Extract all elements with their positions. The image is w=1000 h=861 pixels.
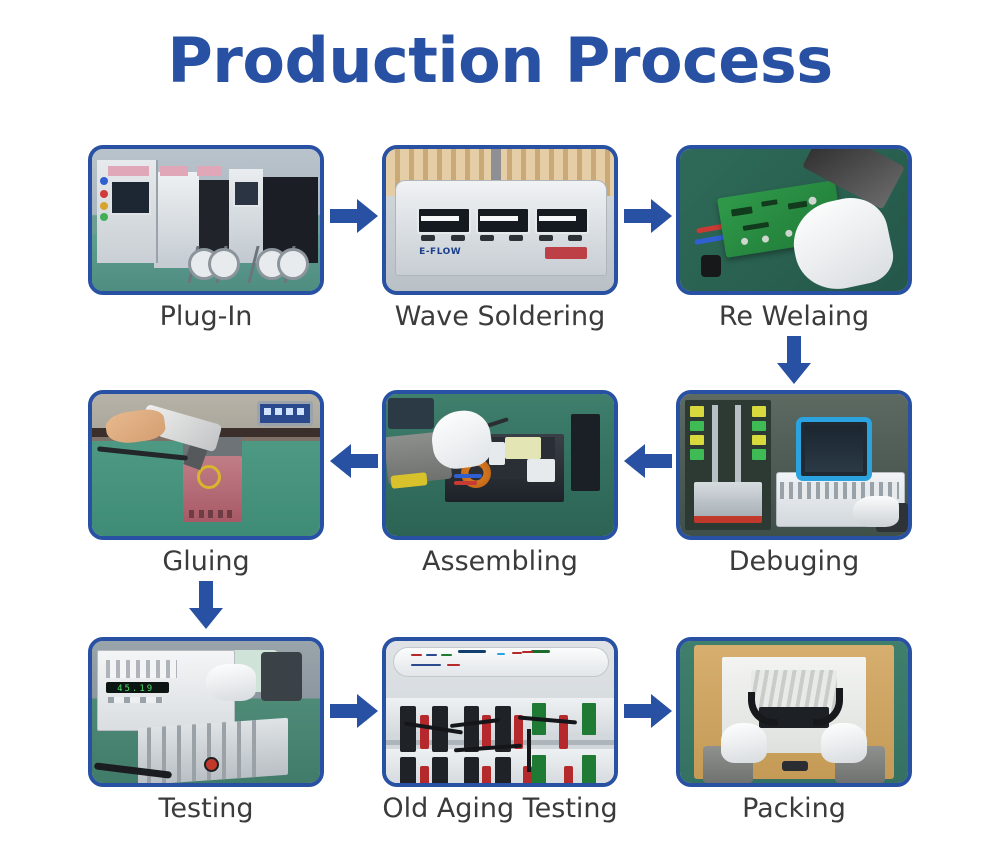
step-card-re-welaing[interactable] bbox=[676, 145, 912, 295]
step-label-wave-soldering: Wave Soldering bbox=[382, 301, 618, 333]
arrow-down-rewelaing-to-debuging bbox=[774, 336, 814, 384]
step-card-wave-soldering[interactable]: E-FLOW bbox=[382, 145, 618, 295]
step-label-plug-in: Plug-In bbox=[88, 301, 324, 333]
step-debuging[interactable]: Debuging bbox=[676, 390, 912, 578]
step-card-plug-in[interactable] bbox=[88, 145, 324, 295]
photo-debuging-test-fixture bbox=[680, 394, 908, 536]
step-label-re-welaing: Re Welaing bbox=[676, 301, 912, 333]
step-label-packing: Packing bbox=[676, 793, 912, 825]
photo-text-meter-reading: 45.19 bbox=[117, 684, 154, 694]
step-card-debuging[interactable] bbox=[676, 390, 912, 540]
arrow-down-gluing-to-testing bbox=[186, 581, 226, 629]
step-card-packing[interactable] bbox=[676, 637, 912, 787]
arrow-right-testing-to-aging bbox=[330, 691, 378, 731]
step-label-assembling: Assembling bbox=[382, 546, 618, 578]
step-packing[interactable]: Packing bbox=[676, 637, 912, 825]
step-wave-soldering[interactable]: E-FLOW Wave Soldering bbox=[382, 145, 618, 333]
page-title: Production Process bbox=[0, 28, 1000, 93]
step-card-old-aging-testing[interactable] bbox=[382, 637, 618, 787]
step-plug-in[interactable]: Plug-In bbox=[88, 145, 324, 333]
photo-packing-carton-box bbox=[680, 641, 908, 783]
arrow-left-debuging-to-assembling bbox=[624, 441, 672, 481]
photo-re-welaing-hand-soldering bbox=[680, 149, 908, 291]
step-card-testing[interactable]: 45.19 bbox=[88, 637, 324, 787]
photo-gluing-glue-gun bbox=[92, 394, 320, 536]
photo-text-eflow-brand: E-FLOW bbox=[419, 247, 461, 257]
arrow-left-assembling-to-gluing bbox=[330, 441, 378, 481]
photo-old-aging-testing-burn-in-rack bbox=[386, 641, 614, 783]
step-re-welaing[interactable]: Re Welaing bbox=[676, 145, 912, 333]
photo-wave-soldering-machine: E-FLOW bbox=[386, 149, 614, 291]
step-gluing[interactable]: Gluing bbox=[88, 390, 324, 578]
arrow-right-aging-to-packing bbox=[624, 691, 672, 731]
step-old-aging-testing[interactable]: Old Aging Testing bbox=[382, 637, 618, 825]
step-label-gluing: Gluing bbox=[88, 546, 324, 578]
step-label-old-aging-testing: Old Aging Testing bbox=[382, 793, 618, 825]
arrow-right-wave-to-rewelaing bbox=[624, 196, 672, 236]
step-label-testing: Testing bbox=[88, 793, 324, 825]
step-card-assembling[interactable] bbox=[382, 390, 618, 540]
step-label-debuging: Debuging bbox=[676, 546, 912, 578]
photo-assembling-power-unit bbox=[386, 394, 614, 536]
photo-plug-in-smt-line bbox=[92, 149, 320, 291]
arrow-right-plugin-to-wave bbox=[330, 196, 378, 236]
step-assembling[interactable]: Assembling bbox=[382, 390, 618, 578]
photo-testing-electronic-load: 45.19 bbox=[92, 641, 320, 783]
step-card-gluing[interactable] bbox=[88, 390, 324, 540]
step-testing[interactable]: 45.19 Testing bbox=[88, 637, 324, 825]
production-process-infographic: Production Process Plug-In bbox=[0, 0, 1000, 861]
